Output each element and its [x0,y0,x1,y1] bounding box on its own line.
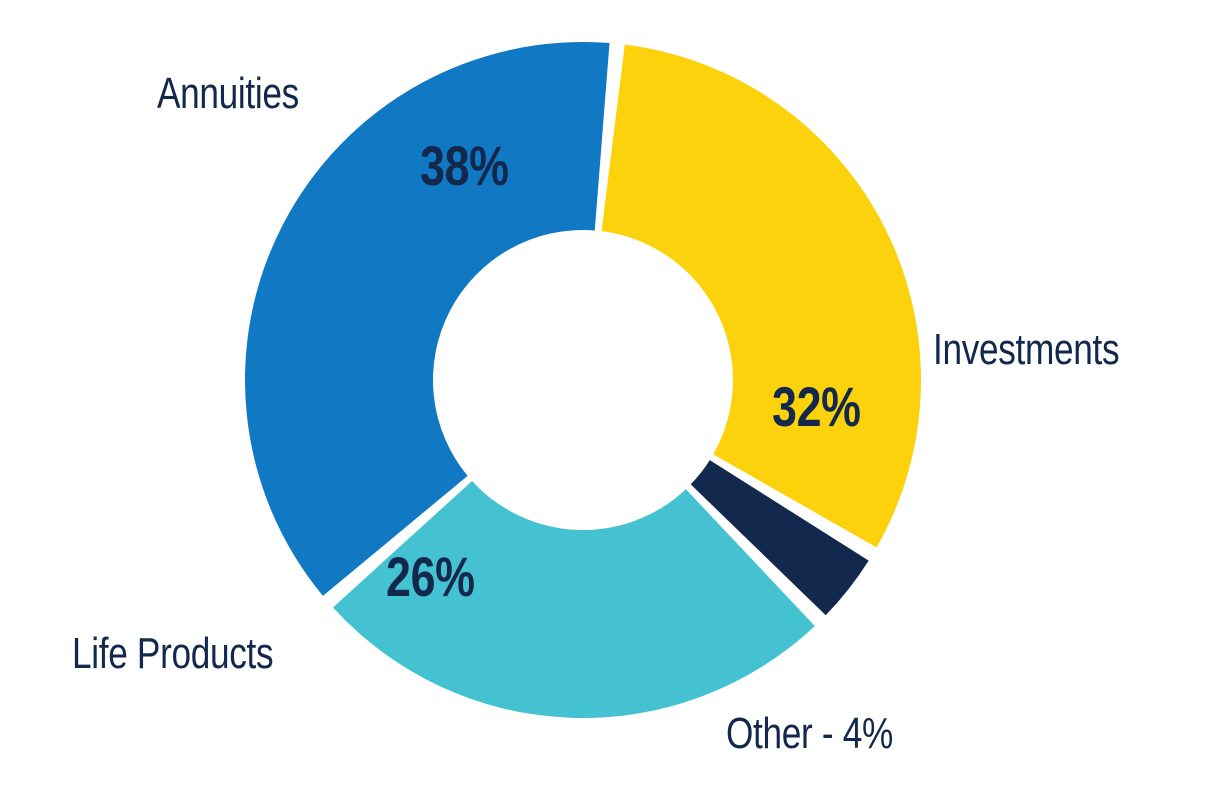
slice-value-investments: 32% [772,379,860,435]
slice-label-annuities: Annuities [157,72,299,116]
donut-chart: Annuities Investments Life Products Othe… [0,0,1214,801]
slice-label-other: Other - 4% [726,712,893,756]
donut-chart-svg [0,0,1214,801]
slice-value-life-products: 26% [386,549,474,605]
slice-label-life-products: Life Products [72,632,273,676]
slice-value-annuities: 38% [420,138,508,194]
slice-label-investments: Investments [933,328,1119,372]
